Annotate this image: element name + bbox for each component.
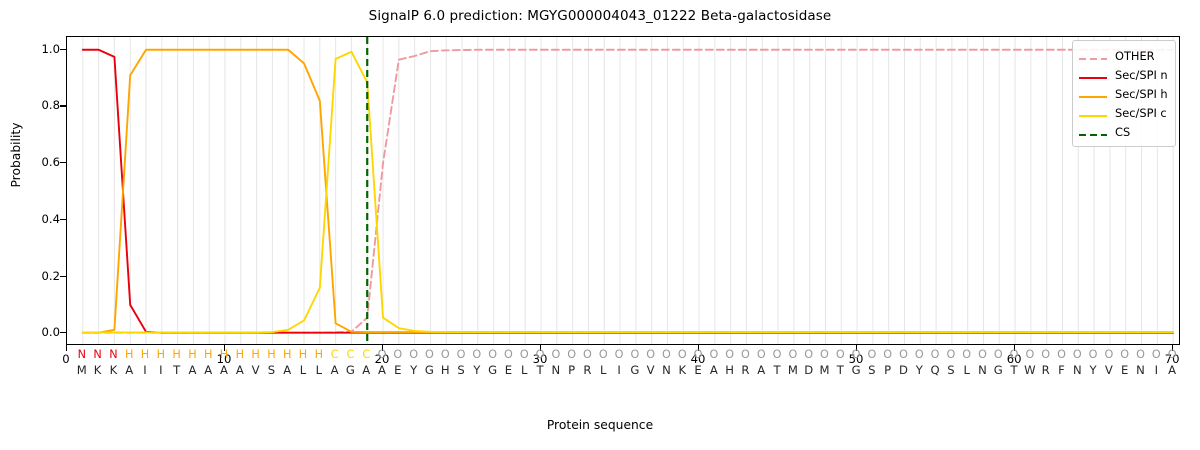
sequence-column: OT — [1006, 347, 1022, 379]
series-line-sec-spi-n — [83, 50, 1173, 333]
legend-item-sec-spi-h[interactable]: Sec/SPI h — [1078, 84, 1169, 103]
region-label-h: H — [137, 347, 153, 362]
residue-label: S — [263, 362, 279, 379]
residue-label: A — [753, 362, 769, 379]
residue-label: A — [374, 362, 390, 379]
region-label-o: O — [943, 347, 959, 362]
residue-label: M — [74, 362, 90, 379]
series-line-sec-spi-c — [83, 52, 1173, 333]
sequence-column: OE — [500, 347, 516, 379]
region-label-o: O — [1117, 347, 1133, 362]
sequence-column: OS — [864, 347, 880, 379]
sequence-column: OK — [674, 347, 690, 379]
residue-label: N — [974, 362, 990, 379]
residue-label: Y — [911, 362, 927, 379]
sequence-column: OD — [895, 347, 911, 379]
residue-label: Y — [406, 362, 422, 379]
legend-item-sec-spi-n[interactable]: Sec/SPI n — [1078, 65, 1169, 84]
region-label-h: H — [311, 347, 327, 362]
sequence-column: OT — [769, 347, 785, 379]
sequence-column: OF — [1053, 347, 1069, 379]
region-label-h: H — [248, 347, 264, 362]
region-label-o: O — [453, 347, 469, 362]
series-line-sec-spi-h — [83, 50, 1173, 333]
sequence-column: HI — [153, 347, 169, 379]
residue-label: L — [295, 362, 311, 379]
residue-label: G — [342, 362, 358, 379]
residue-label: S — [453, 362, 469, 379]
residue-label: I — [1148, 362, 1164, 379]
region-label-o: O — [816, 347, 832, 362]
residue-label: S — [864, 362, 880, 379]
residue-label: R — [737, 362, 753, 379]
y-axis-label-wrap: Probability — [0, 36, 10, 345]
sequence-column: HL — [295, 347, 311, 379]
region-label-o: O — [516, 347, 532, 362]
region-label-o: O — [390, 347, 406, 362]
residue-label: N — [548, 362, 564, 379]
region-label-o: O — [564, 347, 580, 362]
region-label-o: O — [706, 347, 722, 362]
sequence-column: OI — [1148, 347, 1164, 379]
sequence-column: OA — [706, 347, 722, 379]
region-label-h: H — [216, 347, 232, 362]
residue-label: I — [137, 362, 153, 379]
region-label-o: O — [769, 347, 785, 362]
residue-label: K — [90, 362, 106, 379]
sequence-column: OV — [1101, 347, 1117, 379]
residue-label: I — [153, 362, 169, 379]
region-label-o: O — [469, 347, 485, 362]
residue-label: M — [785, 362, 801, 379]
sequence-column: HA — [121, 347, 137, 379]
sequence-column: NK — [90, 347, 106, 379]
sequence-column: CG — [342, 347, 358, 379]
sequence-column: OM — [816, 347, 832, 379]
sequence-column: HL — [311, 347, 327, 379]
region-label-o: O — [421, 347, 437, 362]
sequence-column: OP — [564, 347, 580, 379]
sequence-column: OG — [485, 347, 501, 379]
residue-label: R — [1038, 362, 1054, 379]
region-label-o: O — [643, 347, 659, 362]
residue-label: M — [816, 362, 832, 379]
region-label-o: O — [848, 347, 864, 362]
plot-svg — [67, 37, 1180, 345]
residue-label: E — [690, 362, 706, 379]
region-label-c: C — [358, 347, 374, 362]
region-label-o: O — [1085, 347, 1101, 362]
sequence-column: OL — [595, 347, 611, 379]
legend-label: OTHER — [1115, 49, 1155, 63]
region-label-o: O — [1069, 347, 1085, 362]
residue-label: Y — [469, 362, 485, 379]
sequence-column: OT — [832, 347, 848, 379]
region-label-h: H — [184, 347, 200, 362]
sequence-column: NK — [105, 347, 121, 379]
sequence-column: ON — [1132, 347, 1148, 379]
region-label-o: O — [832, 347, 848, 362]
region-label-o: O — [1132, 347, 1148, 362]
sequence-column: OY — [469, 347, 485, 379]
series-line-other — [83, 50, 1173, 333]
sequence-column: OW — [1022, 347, 1038, 379]
sequence-column: OG — [848, 347, 864, 379]
legend-swatch-icon — [1078, 126, 1108, 138]
region-label-o: O — [500, 347, 516, 362]
residue-label: T — [532, 362, 548, 379]
sequence-column: HI — [137, 347, 153, 379]
residue-label: P — [880, 362, 896, 379]
residue-label: H — [437, 362, 453, 379]
legend-label: Sec/SPI h — [1115, 87, 1168, 101]
legend-swatch-icon — [1078, 50, 1108, 62]
sequence-column: HV — [248, 347, 264, 379]
region-label-o: O — [911, 347, 927, 362]
sequence-column: OP — [880, 347, 896, 379]
region-label-o: O — [1164, 347, 1180, 362]
sequence-column: CA — [358, 347, 374, 379]
residue-label: A — [121, 362, 137, 379]
region-label-o: O — [880, 347, 896, 362]
region-label-o: O — [437, 347, 453, 362]
sequence-column: ON — [974, 347, 990, 379]
sequence-column: OY — [1085, 347, 1101, 379]
region-label-o: O — [785, 347, 801, 362]
residue-label: L — [516, 362, 532, 379]
sequence-column: HA — [184, 347, 200, 379]
region-label-h: H — [263, 347, 279, 362]
legend-item-other[interactable]: OTHER — [1078, 46, 1169, 65]
region-label-o: O — [548, 347, 564, 362]
plot-area — [66, 36, 1180, 345]
sequence-column: OY — [406, 347, 422, 379]
residue-label: V — [248, 362, 264, 379]
signalp-prediction-figure: SignalP 6.0 prediction: MGYG000004043_01… — [0, 0, 1200, 450]
region-label-o: O — [658, 347, 674, 362]
residue-label: N — [658, 362, 674, 379]
residue-label: A — [232, 362, 248, 379]
legend-item-sec-spi-c[interactable]: Sec/SPI c — [1078, 103, 1169, 122]
sequence-column: OR — [1038, 347, 1054, 379]
residue-label: T — [1006, 362, 1022, 379]
residue-label: A — [200, 362, 216, 379]
region-label-o: O — [374, 347, 390, 362]
residue-label: I — [611, 362, 627, 379]
sequence-column: OR — [579, 347, 595, 379]
sequence-column: OG — [627, 347, 643, 379]
residue-label: A — [1164, 362, 1180, 379]
region-label-o: O — [722, 347, 738, 362]
sequence-column: OI — [611, 347, 627, 379]
region-label-o: O — [927, 347, 943, 362]
residue-label: H — [722, 362, 738, 379]
region-label-c: C — [342, 347, 358, 362]
residue-label: N — [1069, 362, 1085, 379]
sequence-column: HA — [200, 347, 216, 379]
sequence-column: OQ — [927, 347, 943, 379]
region-label-o: O — [753, 347, 769, 362]
residue-label: V — [643, 362, 659, 379]
region-label-o: O — [611, 347, 627, 362]
residue-label: T — [832, 362, 848, 379]
residue-label: D — [895, 362, 911, 379]
y-axis-tick-label: 0.2 — [20, 269, 60, 283]
residue-label: S — [943, 362, 959, 379]
region-label-o: O — [1022, 347, 1038, 362]
residue-label: V — [1101, 362, 1117, 379]
region-label-o: O — [1053, 347, 1069, 362]
sequence-column: OM — [785, 347, 801, 379]
residue-label: N — [1132, 362, 1148, 379]
region-label-o: O — [801, 347, 817, 362]
region-label-h: H — [169, 347, 185, 362]
region-label-o: O — [690, 347, 706, 362]
residue-label: R — [579, 362, 595, 379]
residue-label: T — [169, 362, 185, 379]
sequence-column: OT — [532, 347, 548, 379]
residue-label: F — [1053, 362, 1069, 379]
sequence-column: OY — [911, 347, 927, 379]
residue-label: A — [706, 362, 722, 379]
protein-sequence-track: NMNKNKHAHIHIHTHAHAHAHAHVHSHAHLHLCACGCAOA… — [66, 347, 1180, 391]
legend-item-cs[interactable]: CS — [1078, 122, 1169, 141]
residue-label: G — [485, 362, 501, 379]
region-label-o: O — [1038, 347, 1054, 362]
region-label-o: O — [579, 347, 595, 362]
legend-swatch-icon — [1078, 107, 1108, 119]
residue-label: T — [769, 362, 785, 379]
legend-label: Sec/SPI n — [1115, 68, 1168, 82]
y-axis-tick-labels: 0.00.20.40.60.81.0 — [16, 36, 60, 345]
sequence-column: HA — [279, 347, 295, 379]
region-label-h: H — [200, 347, 216, 362]
region-label-o: O — [627, 347, 643, 362]
sequence-column: ON — [658, 347, 674, 379]
sequence-column: CA — [327, 347, 343, 379]
sequence-column: OR — [737, 347, 753, 379]
residue-label: L — [959, 362, 975, 379]
page-title: SignalP 6.0 prediction: MGYG000004043_01… — [0, 8, 1200, 24]
sequence-column: OA — [1164, 347, 1180, 379]
region-label-n: N — [74, 347, 90, 362]
sequence-column: OE — [390, 347, 406, 379]
residue-label: G — [848, 362, 864, 379]
region-label-o: O — [1006, 347, 1022, 362]
sequence-column: ON — [548, 347, 564, 379]
region-label-o: O — [406, 347, 422, 362]
region-label-o: O — [990, 347, 1006, 362]
region-label-o: O — [737, 347, 753, 362]
region-label-h: H — [295, 347, 311, 362]
sequence-column: OV — [643, 347, 659, 379]
sequence-column: OL — [959, 347, 975, 379]
sequence-column: HA — [216, 347, 232, 379]
region-label-o: O — [1148, 347, 1164, 362]
legend-label: Sec/SPI c — [1115, 106, 1167, 120]
region-label-h: H — [121, 347, 137, 362]
residue-label: K — [674, 362, 690, 379]
sequence-column: OE — [1117, 347, 1133, 379]
residue-label: E — [390, 362, 406, 379]
sequence-column: HA — [232, 347, 248, 379]
region-label-o: O — [895, 347, 911, 362]
region-label-o: O — [974, 347, 990, 362]
residue-label: G — [421, 362, 437, 379]
residue-label: P — [564, 362, 580, 379]
residue-label: Q — [927, 362, 943, 379]
residue-label: A — [358, 362, 374, 379]
region-label-o: O — [674, 347, 690, 362]
region-label-h: H — [279, 347, 295, 362]
sequence-column: OH — [437, 347, 453, 379]
residue-label: D — [801, 362, 817, 379]
y-axis-tick-label: 0.4 — [20, 212, 60, 226]
residue-label: L — [595, 362, 611, 379]
sequence-column: OA — [753, 347, 769, 379]
residue-label: G — [990, 362, 1006, 379]
region-label-n: N — [105, 347, 121, 362]
residue-label: L — [311, 362, 327, 379]
sequence-column: NM — [74, 347, 90, 379]
residue-label: G — [627, 362, 643, 379]
chart-legend: OTHERSec/SPI nSec/SPI hSec/SPI cCS — [1072, 40, 1176, 147]
sequence-column: OG — [990, 347, 1006, 379]
x-axis-label: Protein sequence — [0, 418, 1200, 432]
sequence-column: OL — [516, 347, 532, 379]
sequence-column: HT — [169, 347, 185, 379]
sequence-column: ON — [1069, 347, 1085, 379]
residue-label: E — [1117, 362, 1133, 379]
region-label-o: O — [959, 347, 975, 362]
residue-label: W — [1022, 362, 1038, 379]
y-axis-tick-label: 0.6 — [20, 155, 60, 169]
sequence-column: OE — [690, 347, 706, 379]
sequence-column: OG — [421, 347, 437, 379]
residue-label: A — [327, 362, 343, 379]
region-label-n: N — [90, 347, 106, 362]
residue-label: K — [105, 362, 121, 379]
legend-swatch-icon — [1078, 69, 1108, 81]
region-label-o: O — [595, 347, 611, 362]
residue-label: E — [500, 362, 516, 379]
region-label-h: H — [153, 347, 169, 362]
residue-label: A — [184, 362, 200, 379]
residue-label: A — [279, 362, 295, 379]
sequence-column: OD — [801, 347, 817, 379]
region-label-o: O — [532, 347, 548, 362]
y-axis-tick-label: 1.0 — [20, 42, 60, 56]
sequence-column: OS — [943, 347, 959, 379]
sequence-column: OH — [722, 347, 738, 379]
region-label-c: C — [327, 347, 343, 362]
region-label-o: O — [864, 347, 880, 362]
region-label-h: H — [232, 347, 248, 362]
sequence-column: HS — [263, 347, 279, 379]
legend-swatch-icon — [1078, 88, 1108, 100]
sequence-column: OS — [453, 347, 469, 379]
legend-label: CS — [1115, 125, 1130, 139]
sequence-column: OA — [374, 347, 390, 379]
y-axis-tick-label: 0.0 — [20, 325, 60, 339]
y-axis-tick-label: 0.8 — [20, 98, 60, 112]
region-label-o: O — [485, 347, 501, 362]
region-label-o: O — [1101, 347, 1117, 362]
residue-label: Y — [1085, 362, 1101, 379]
residue-label: A — [216, 362, 232, 379]
